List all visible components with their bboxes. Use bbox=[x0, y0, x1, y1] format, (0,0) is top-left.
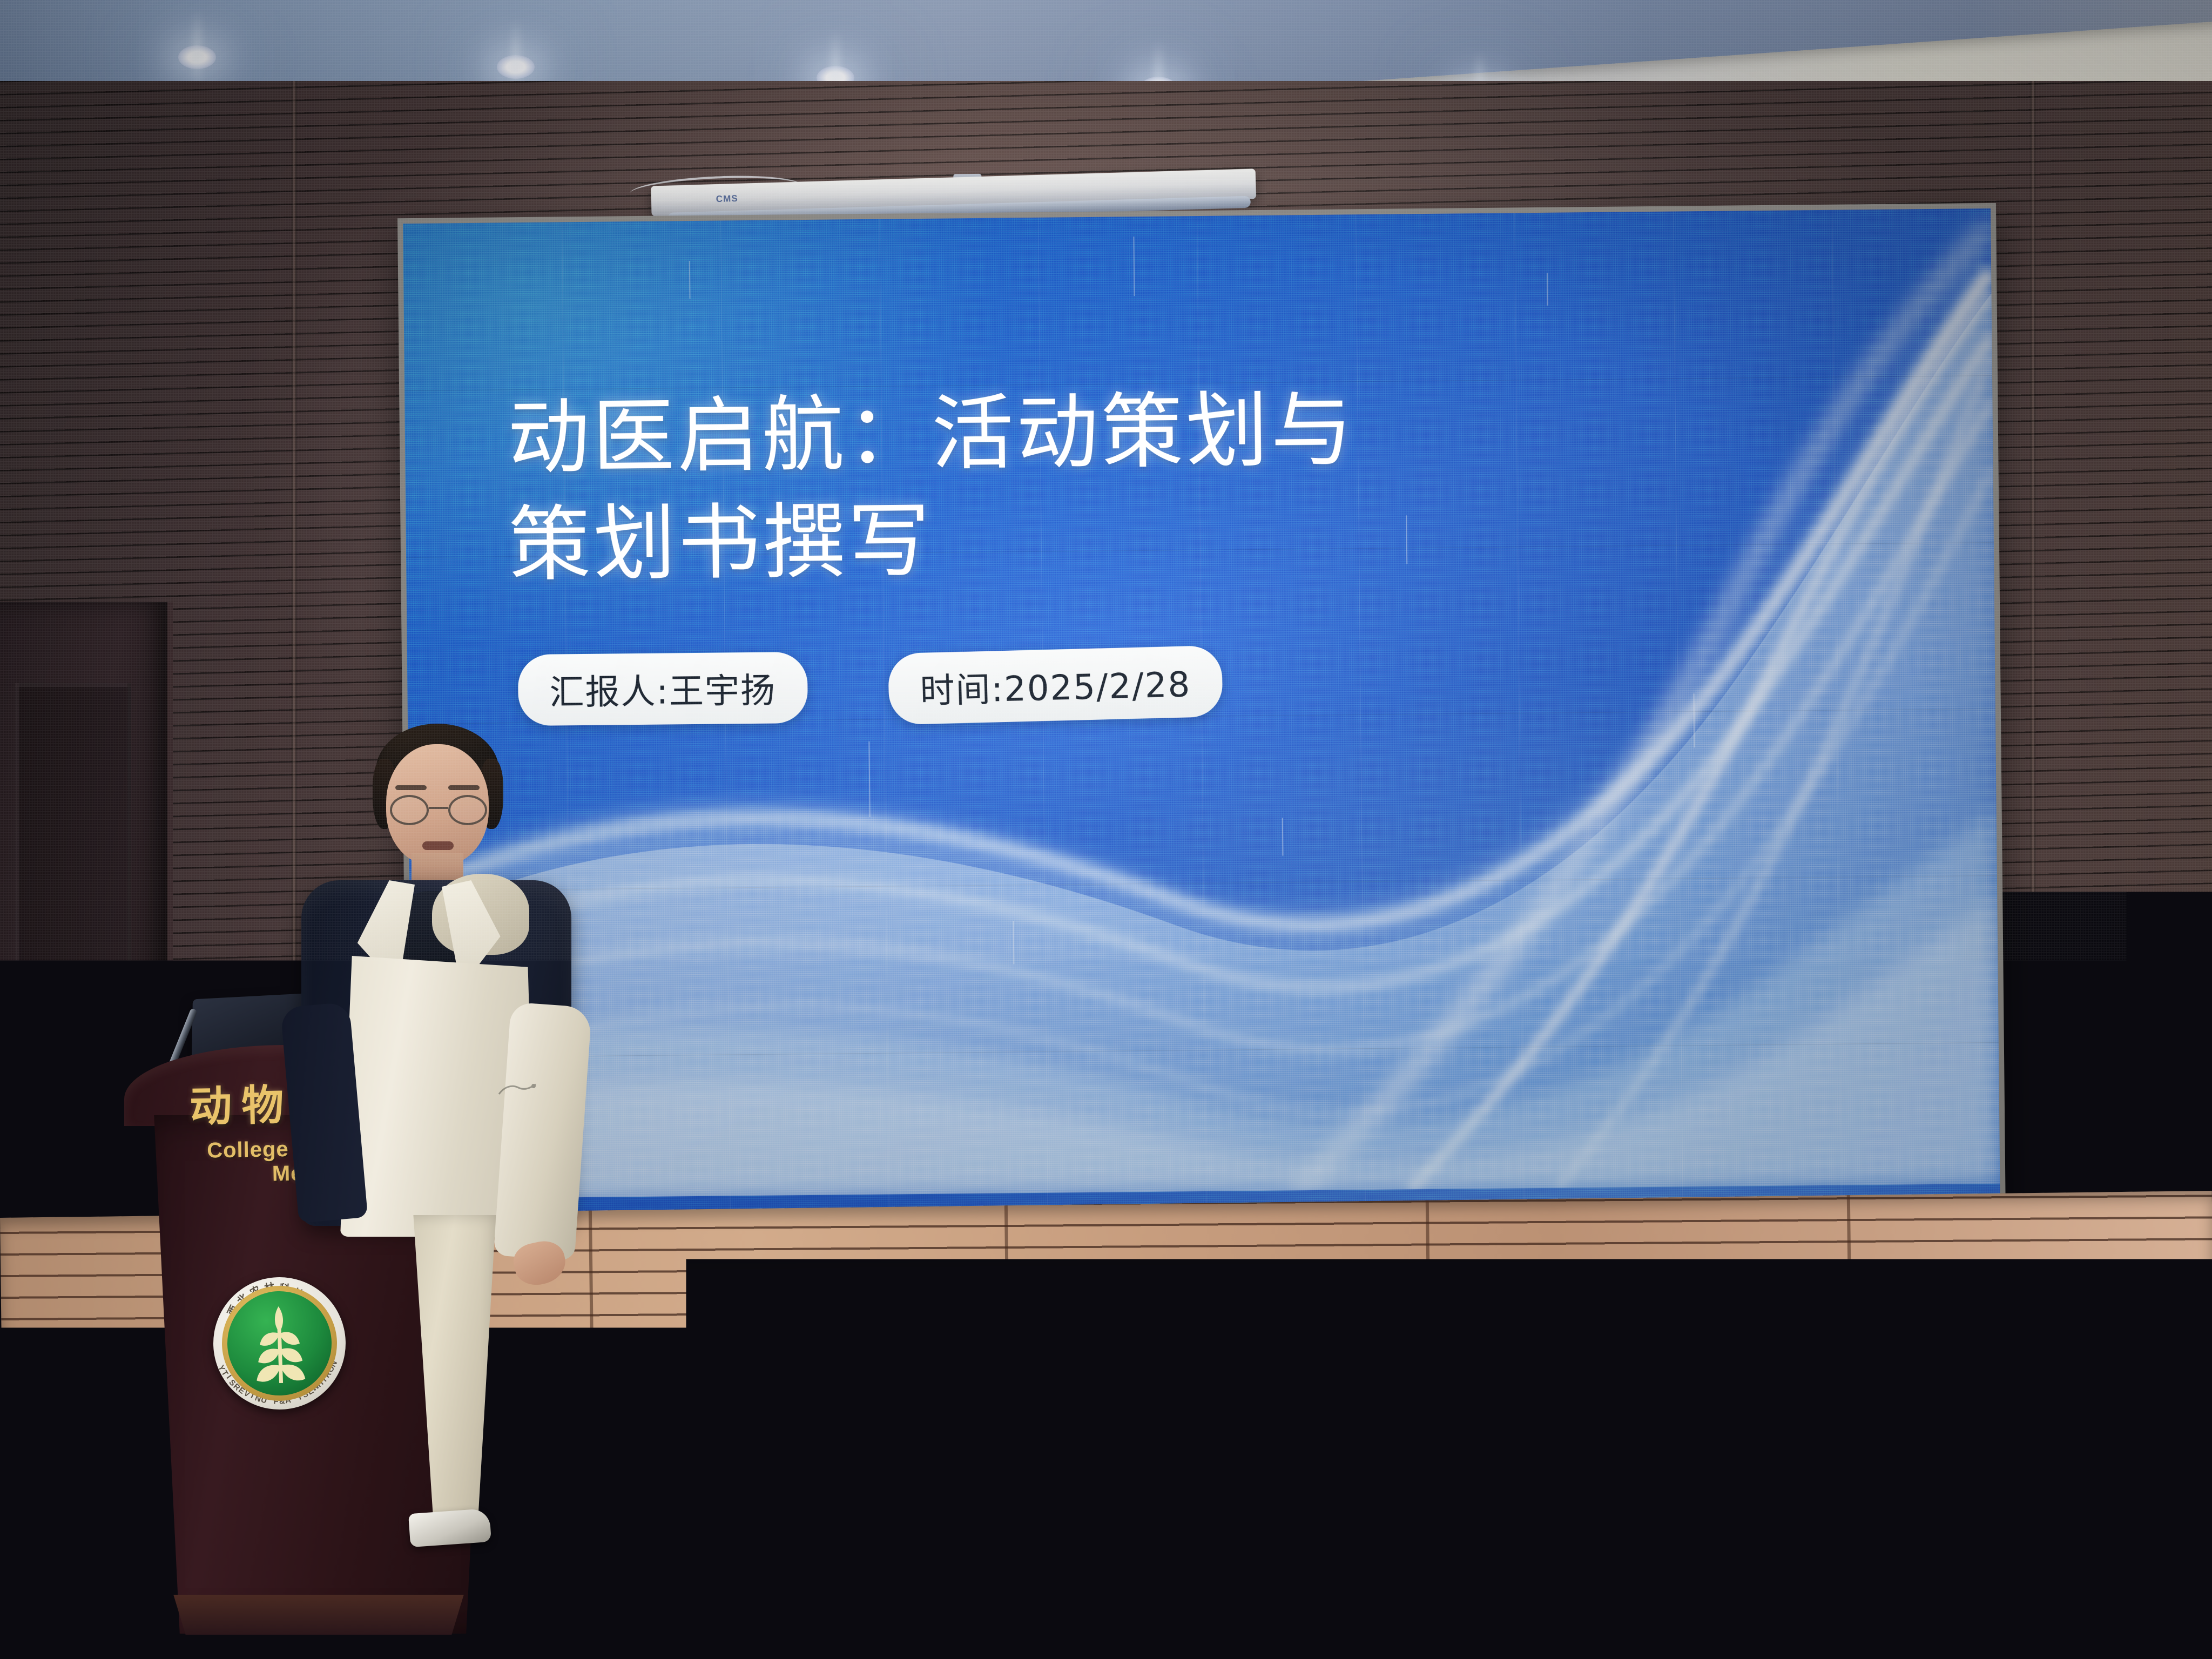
floor-plank-joint bbox=[1469, 1426, 1470, 1659]
mouth bbox=[422, 841, 454, 850]
screen-outer-frame: 动医启航：活动策划与 策划书撰写 汇报人:王宇扬 时间:2025/2/28 bbox=[397, 203, 2006, 1233]
downlight-flare bbox=[193, 9, 201, 90]
eyebrow-left bbox=[395, 785, 427, 790]
presenter bbox=[270, 702, 605, 1545]
slide-title-line2: 策划书撰写 bbox=[508, 483, 1427, 598]
wall-seam bbox=[2031, 81, 2035, 1339]
screen-bezel: 动医启航：活动策划与 策划书撰写 汇报人:王宇扬 时间:2025/2/28 bbox=[403, 208, 2000, 1228]
eyebrow-right bbox=[448, 785, 480, 790]
jacket-sleeve-right bbox=[494, 1002, 592, 1260]
projector-brand-label: CMS bbox=[716, 193, 738, 205]
floor-outlet-cover[interactable] bbox=[1342, 1588, 1439, 1642]
downlight-2 bbox=[497, 55, 535, 79]
led-screen-assembly: CMS bbox=[397, 203, 2006, 1233]
pants bbox=[399, 1215, 504, 1539]
door-panel bbox=[15, 683, 131, 1056]
downlight-1 bbox=[178, 45, 216, 69]
slide-title: 动医启航：活动策划与 策划书撰写 bbox=[507, 376, 1427, 598]
power-plug bbox=[75, 1593, 112, 1629]
shoe bbox=[408, 1508, 491, 1547]
glasses-lens-right bbox=[448, 795, 487, 825]
floor-plank-joint bbox=[1825, 1426, 1826, 1659]
glasses bbox=[390, 795, 487, 826]
glasses-bridge bbox=[429, 807, 448, 809]
date-pill: 时间:2025/2/28 bbox=[887, 645, 1223, 725]
power-socket[interactable] bbox=[30, 1606, 54, 1628]
lecture-hall-photo: CMS bbox=[0, 0, 2212, 1659]
floor-plank-joint bbox=[886, 1426, 887, 1659]
power-socket[interactable] bbox=[3, 1609, 27, 1631]
slide-meta-pills: 汇报人:王宇扬 时间:2025/2/28 bbox=[518, 648, 1222, 726]
led-display-panel[interactable]: 动医启航：活动策划与 策划书撰写 汇报人:王宇扬 时间:2025/2/28 bbox=[403, 208, 2000, 1228]
slide-title-line1: 动医启航：活动策划与 bbox=[507, 376, 1426, 491]
glasses-lens-left bbox=[390, 795, 429, 825]
jacket-logo-patch bbox=[496, 1080, 542, 1102]
